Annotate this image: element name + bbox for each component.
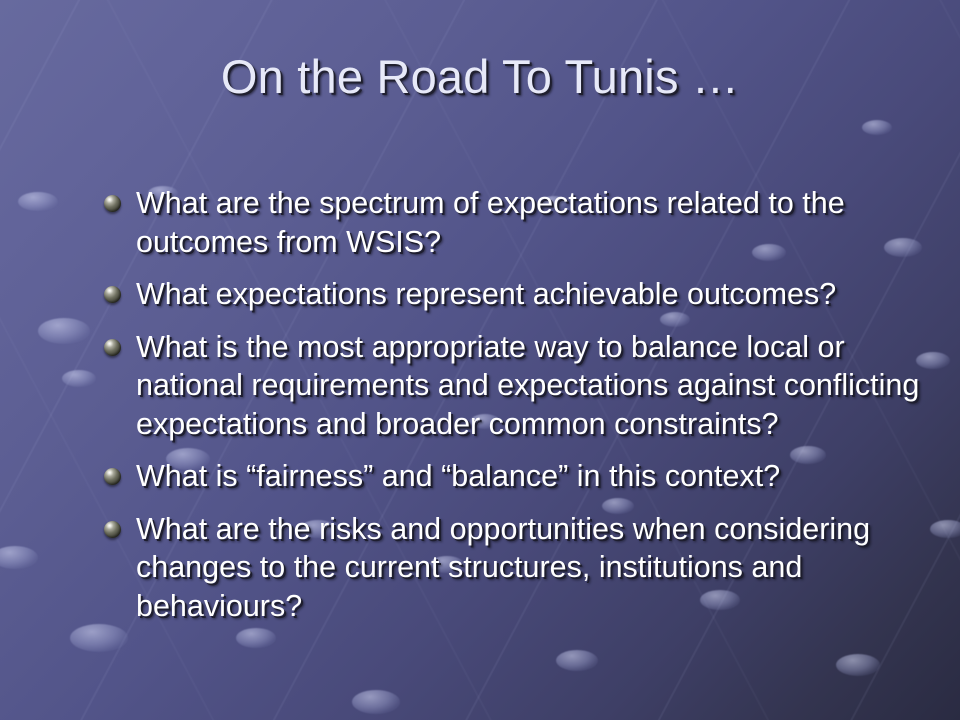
bullet-text: What expectations represent achievable o… — [136, 275, 932, 314]
decor-bead-icon — [862, 120, 892, 135]
sphere-bullet-icon — [104, 339, 121, 356]
decor-bead-icon — [352, 690, 400, 714]
decor-bead-icon — [62, 370, 96, 387]
bullet-text: What is the most appropriate way to bala… — [136, 328, 932, 444]
decor-bead-icon — [38, 318, 90, 344]
bullet-list: What are the spectrum of expectations re… — [104, 184, 932, 639]
decor-bead-icon — [556, 650, 598, 671]
decor-bead-icon — [0, 546, 38, 569]
sphere-bullet-icon — [104, 195, 121, 212]
sphere-bullet-icon — [104, 286, 121, 303]
sphere-bullet-icon — [104, 468, 121, 485]
bullet-text: What are the risks and opportunities whe… — [136, 510, 932, 626]
list-item: What is the most appropriate way to bala… — [104, 328, 932, 444]
list-item: What are the spectrum of expectations re… — [104, 184, 932, 261]
bullet-text: What is “fairness” and “balance” in this… — [136, 457, 932, 496]
bullet-text: What are the spectrum of expectations re… — [136, 184, 932, 261]
list-item: What are the risks and opportunities whe… — [104, 510, 932, 626]
list-item: What is “fairness” and “balance” in this… — [104, 457, 932, 496]
decor-bead-icon — [930, 520, 960, 538]
slide-title: On the Road To Tunis … — [60, 52, 900, 101]
list-item: What expectations represent achievable o… — [104, 275, 932, 314]
sphere-bullet-icon — [104, 521, 121, 538]
decor-bead-icon — [836, 654, 880, 676]
presentation-slide: On the Road To Tunis … What are the spec… — [0, 0, 960, 720]
decor-bead-icon — [18, 192, 58, 211]
